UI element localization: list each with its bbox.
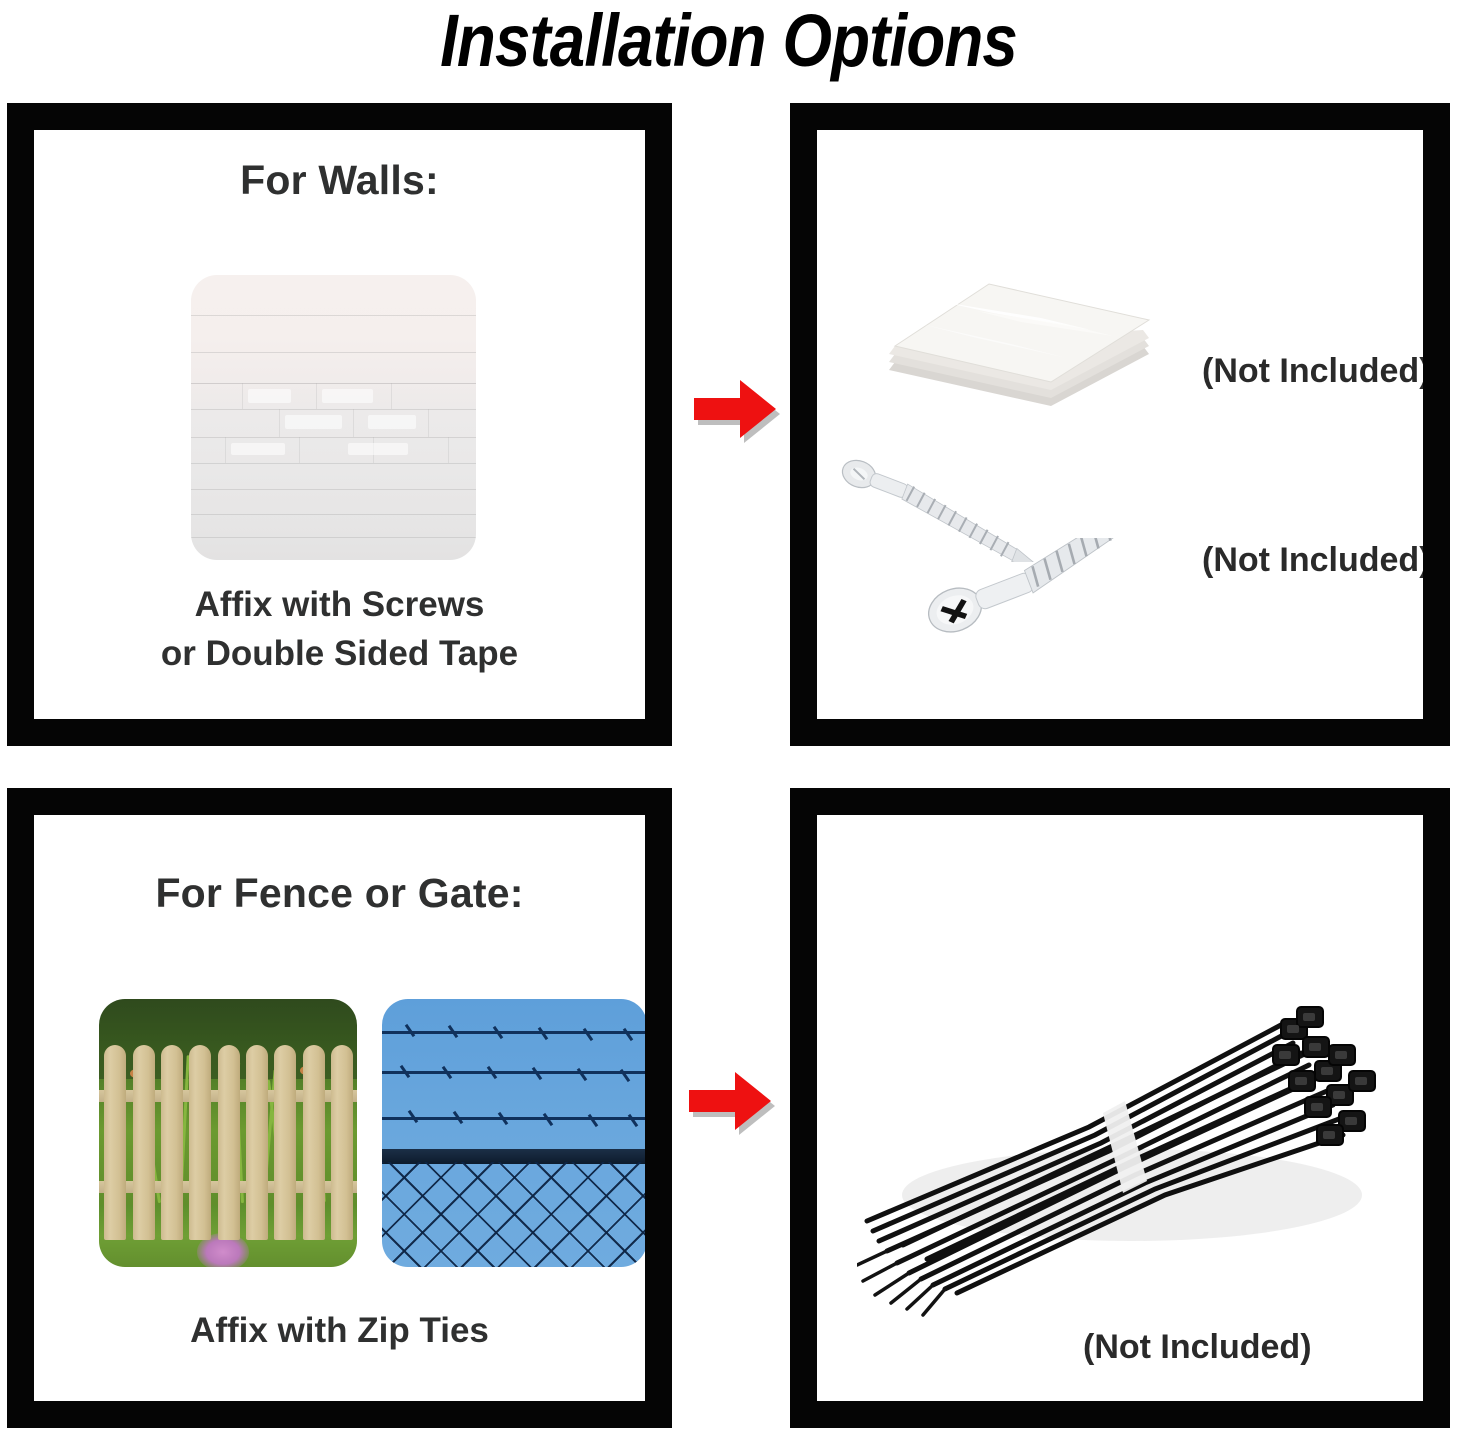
screws-not-included-label: (Not Included) bbox=[1202, 541, 1423, 580]
panel-hardware: (Not Included) bbox=[790, 103, 1450, 746]
panel-fence-caption: Affix with Zip Ties bbox=[34, 1306, 645, 1356]
installation-options-infographic: Installation Options For Walls: bbox=[0, 0, 1457, 1434]
chain-link-barbed-wire-thumbnail bbox=[382, 999, 645, 1267]
zip-tie-bundle-image bbox=[857, 945, 1387, 1325]
tape-not-included-label: (Not Included) bbox=[1202, 352, 1423, 391]
caption-line-1: Affix with Screws bbox=[34, 580, 645, 630]
panel-for-fence-or-gate: For Fence or Gate: bbox=[7, 788, 672, 1428]
panel-walls-caption: Affix with Screws or Double Sided Tape bbox=[34, 580, 645, 679]
panel-for-walls: For Walls: bbox=[7, 103, 672, 746]
wall-brick-thumbnail bbox=[191, 275, 476, 560]
double-sided-tape-stack bbox=[881, 258, 1159, 438]
red-right-arrow-icon bbox=[688, 372, 782, 446]
screw-lower-phillips-icon bbox=[915, 538, 1195, 668]
panel-walls-heading: For Walls: bbox=[34, 157, 645, 204]
zipties-not-included-label: (Not Included) bbox=[1083, 1328, 1312, 1367]
panel-fence-heading: For Fence or Gate: bbox=[34, 870, 645, 917]
caption-line-2: or Double Sided Tape bbox=[34, 629, 645, 679]
red-right-arrow-icon-2 bbox=[683, 1064, 777, 1138]
page-title: Installation Options bbox=[102, 0, 1355, 83]
panel-zip-ties: (Not Included) bbox=[790, 788, 1450, 1428]
wooden-picket-fence-thumbnail bbox=[99, 999, 357, 1267]
